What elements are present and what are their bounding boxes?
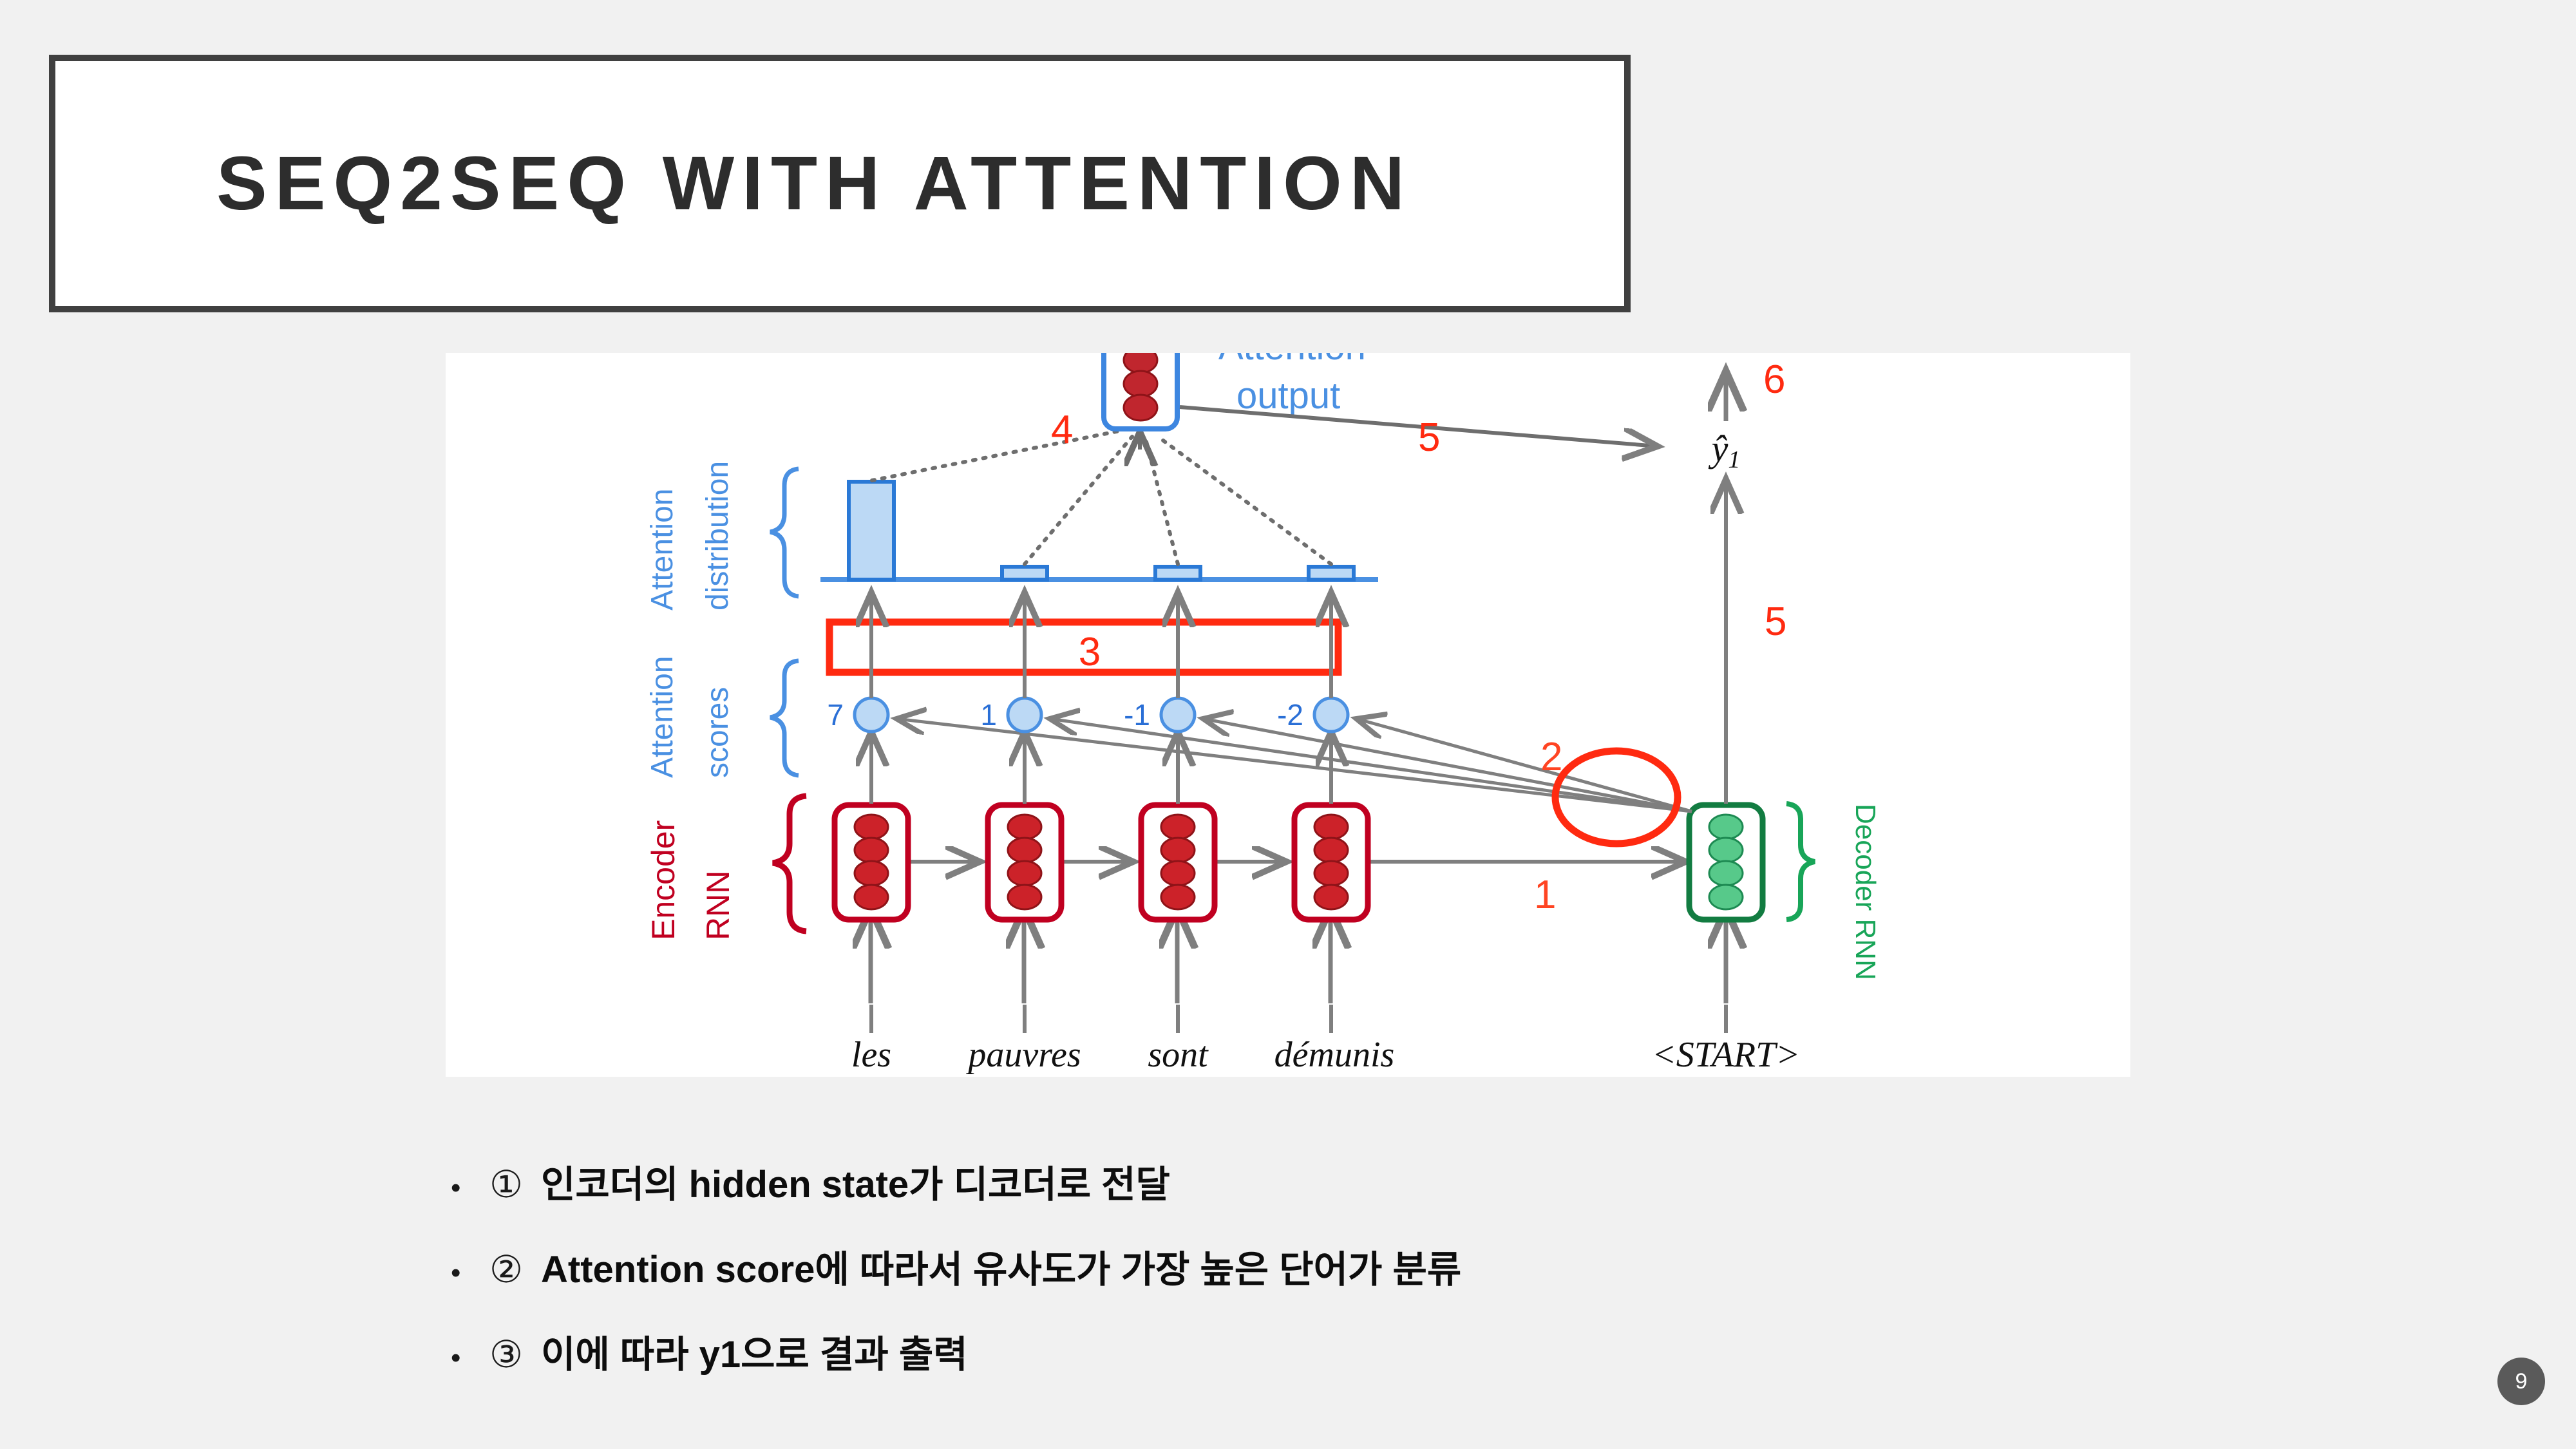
annotation-label-6: 6 [1763, 357, 1785, 402]
input-token-les: les [851, 1035, 891, 1075]
bullet-number-3: ③ [489, 1323, 541, 1387]
encoder-cell-demunis [1294, 805, 1368, 920]
attention-score-node-3 [1161, 698, 1195, 732]
encoder-cell-sont [1141, 805, 1215, 920]
encoder-rnn-brace [773, 796, 806, 931]
attention-bar-les [849, 482, 894, 580]
page-number-badge: 9 [2497, 1358, 2545, 1405]
input-token-demunis: démunis [1274, 1035, 1395, 1075]
attention-score-value-4: -2 [1277, 698, 1303, 732]
decoder-rnn-label: Decoder RNN [1850, 804, 1881, 980]
encoder-rnn-label-line2: RNN [700, 871, 736, 940]
bullet-text-1: 인코더의 hidden state가 디코더로 전달 [541, 1153, 1170, 1217]
attention-score-node-4 [1314, 698, 1348, 732]
encoder-cell-pauvres [988, 805, 1061, 920]
attention-distribution-label-line1: Attention [645, 489, 679, 611]
slide-title-box: SEQ2SEQ WITH ATTENTION [49, 55, 1631, 312]
attention-score-value-1: 7 [827, 698, 844, 732]
attention-scores-label-line1: Attention [645, 656, 679, 778]
attention-bar-sont [1155, 567, 1200, 580]
list-item: • ① 인코더의 hidden state가 디코더로 전달 [451, 1153, 2383, 1224]
bullet-marker-icon: • [451, 1326, 489, 1390]
bullet-number-1: ① [489, 1153, 541, 1217]
attention-scores-label-line2: scores [701, 687, 735, 778]
decoder-yhat-symbol: ŷ1 [1709, 428, 1741, 473]
bullet-text-3: 이에 따라 y1으로 결과 출력 [541, 1323, 968, 1387]
decoder-rnn-brace [1786, 804, 1815, 920]
attention-score-value-3: -1 [1124, 698, 1150, 732]
encoder-cell-les [835, 805, 908, 920]
annotation-label-1: 1 [1534, 873, 1556, 917]
encoder-rnn-group [835, 805, 1726, 1003]
list-item: • ② Attention score에 따라서 유사도가 가장 높은 단어가 … [451, 1238, 2383, 1309]
page-title: SEQ2SEQ WITH ATTENTION [216, 140, 1412, 227]
decoder-rnn-cell [1689, 805, 1763, 920]
decoder-token-start: <START> [1652, 1035, 1800, 1075]
encoder-rnn-label-line1: Encoder [645, 820, 681, 940]
bullet-marker-icon: • [451, 1241, 489, 1305]
attention-score-node-1 [855, 698, 888, 732]
attention-bar-pauvres [1002, 567, 1047, 580]
bullet-number-2: ② [489, 1238, 541, 1302]
annotation-label-4: 4 [1051, 408, 1073, 452]
attention-output-label-line1: Attention [1218, 353, 1366, 368]
input-token-pauvres: pauvres [965, 1035, 1081, 1075]
attention-distribution-brace [770, 469, 799, 596]
input-token-stems [871, 1005, 1726, 1033]
attention-output-cell [1104, 353, 1177, 429]
bullet-list: • ① 인코더의 hidden state가 디코더로 전달 • ② Atten… [451, 1153, 2383, 1408]
attention-bar-demunis [1309, 567, 1354, 580]
attention-score-node-2 [1008, 698, 1041, 732]
attention-score-value-2: 1 [980, 698, 997, 732]
seq2seq-attention-diagram: Decoder RNN Encoder RNN 7 1 [446, 353, 2130, 1077]
diagram-canvas: Decoder RNN Encoder RNN 7 1 [446, 353, 2130, 1077]
decoder-output-word: the [1703, 353, 1749, 360]
attention-output-dotted-links [872, 430, 1331, 564]
bullet-text-2: Attention score에 따라서 유사도가 가장 높은 단어가 분류 [541, 1238, 1461, 1302]
annotation-box-3: 3 [829, 622, 1338, 674]
annotation-label-5a: 5 [1418, 415, 1440, 460]
attention-distribution-group [820, 482, 1378, 580]
annotation-label-2: 2 [1540, 735, 1562, 779]
attention-distribution-label-line2: distribution [701, 461, 735, 611]
attention-output-label-line2: output [1236, 375, 1340, 417]
bullet-marker-icon: • [451, 1156, 489, 1220]
attention-scores-brace [770, 661, 799, 775]
annotation-label-3: 3 [1079, 630, 1101, 674]
annotation-label-5b: 5 [1765, 600, 1786, 644]
input-token-sont: sont [1148, 1035, 1209, 1075]
list-item: • ③ 이에 따라 y1으로 결과 출력 [451, 1323, 2383, 1394]
